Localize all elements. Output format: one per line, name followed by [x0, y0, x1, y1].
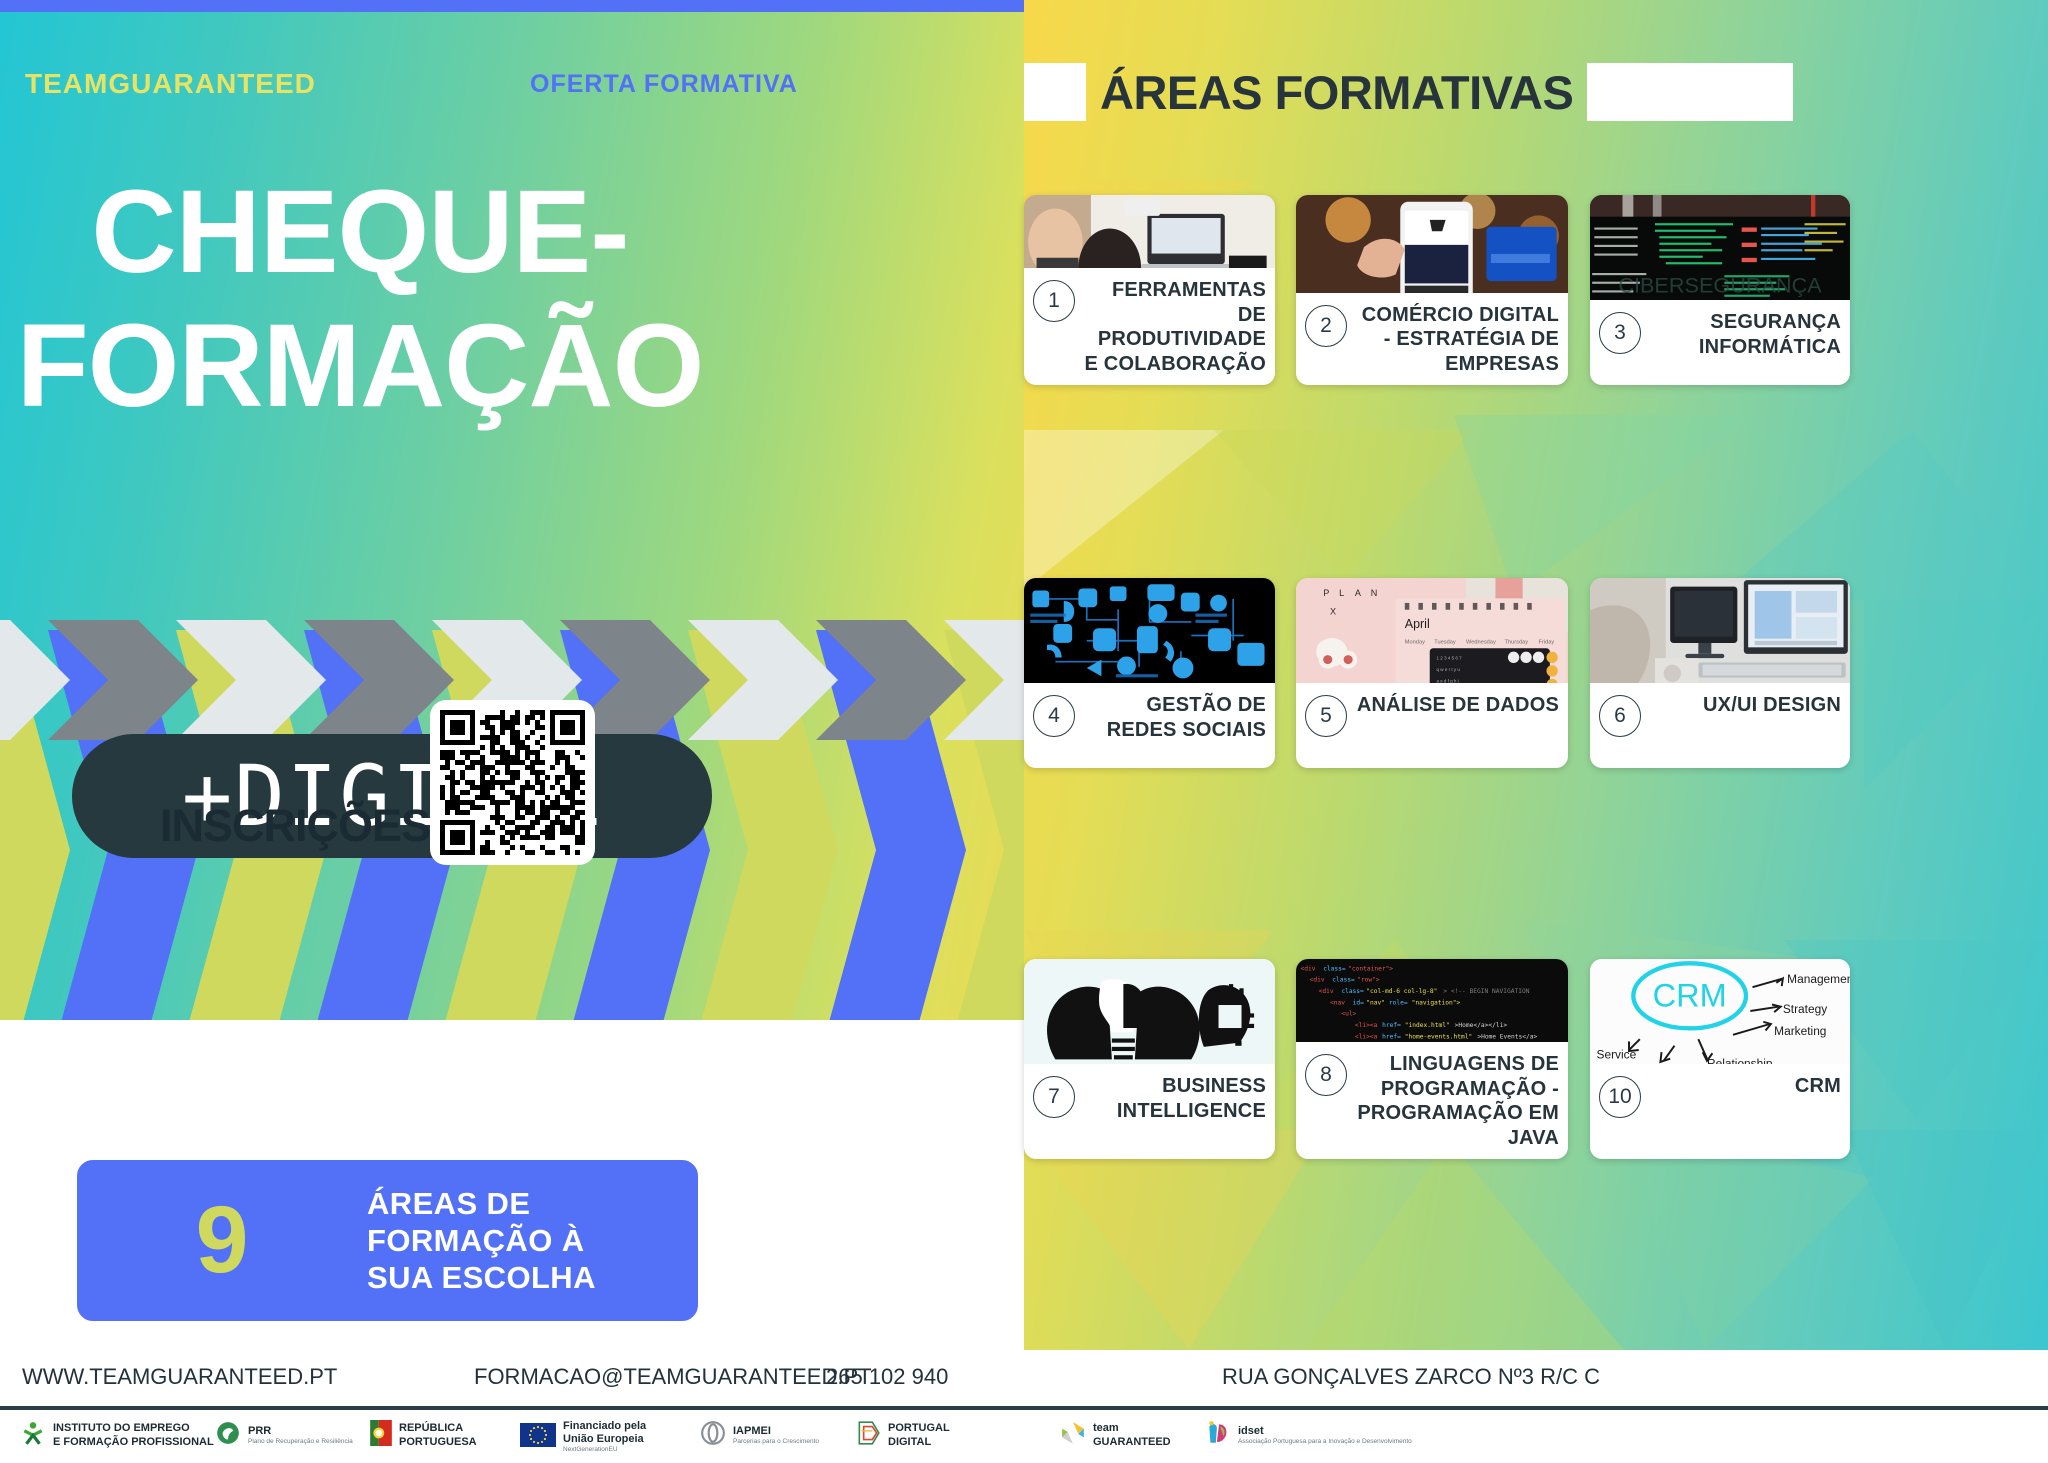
svg-text:"col-md-6 col-lg-8": "col-md-6 col-lg-8": [1366, 988, 1437, 995]
svg-text:id=: id=: [1353, 999, 1364, 1006]
course-title: SEGURANÇA INFORMÁTICA: [1648, 310, 1841, 360]
course-meta: 7BUSINESS INTELLIGENCE: [1024, 1064, 1275, 1159]
svg-text:CRM: CRM: [1653, 978, 1727, 1014]
logo-line-1: idset: [1238, 1425, 1412, 1438]
course-card[interactable]: 6UX/UI DESIGN: [1590, 578, 1850, 768]
svg-text:P: P: [1323, 588, 1329, 598]
svg-text:class=: class=: [1341, 988, 1364, 995]
inscricoes-label: INSCRIÇÕES:: [160, 800, 444, 852]
footer-address: RUA GONÇALVES ZARCO Nº3 R/C C: [1222, 1364, 1600, 1390]
partner-logo-text: idsetAssociação Portuguesa para a Inovaç…: [1238, 1425, 1412, 1446]
course-grid: 1FERRAMENTAS DE PRODUTIVIDADE E COLABORA…: [1024, 195, 2048, 1340]
svg-text:Tuesday: Tuesday: [1434, 640, 1456, 646]
partner-logo-text: Financiado pelaUnião EuropeiaNextGenerat…: [563, 1420, 646, 1454]
svg-text:<li><a: <li><a: [1355, 1033, 1378, 1040]
course-title: GESTÃO DE REDES SOCIAIS: [1082, 693, 1266, 743]
portugal-digital-icon: [855, 1420, 881, 1451]
course-card[interactable]: CIBERSEGURANÇA 3SEGURANÇA INFORMÁTICA: [1590, 195, 1850, 385]
svg-text:Marketing: Marketing: [1774, 1024, 1826, 1038]
course-title: ANÁLISE DE DADOS: [1354, 693, 1559, 718]
svg-text:<div: <div: [1301, 965, 1316, 972]
course-row-2: 4GESTÃO DE REDES SOCIAIS April MondayTue…: [1024, 578, 2048, 768]
svg-text:>Home Events</a>: >Home Events</a>: [1477, 1033, 1537, 1040]
iapmei-icon: [700, 1420, 726, 1451]
svg-text:q w e r t y u: q w e r t y u: [1437, 667, 1461, 672]
idset-icon: [1205, 1420, 1231, 1451]
logo-line-2: E FORMAÇÃO PROFISSIONAL: [53, 1436, 214, 1449]
svg-text:<div: <div: [1319, 988, 1334, 995]
course-thumbnail-social-icons: [1024, 578, 1275, 683]
chevron-shape-top: [816, 620, 966, 740]
svg-text:"navigation">: "navigation">: [1412, 999, 1461, 1006]
course-meta: 3SEGURANÇA INFORMÁTICA: [1590, 300, 1850, 385]
course-number-badge: 7: [1033, 1076, 1075, 1118]
logo-subtext: Parcerias para o Crescimento: [733, 1438, 819, 1446]
brand-label: TEAMGUARANTEED: [25, 68, 316, 100]
course-meta: 4GESTÃO DE REDES SOCIAIS: [1024, 683, 1275, 768]
headline-line-1: CHEQUE-: [91, 166, 628, 298]
svg-text:>Home</a></li>: >Home</a></li>: [1455, 1022, 1508, 1029]
page-title: CHEQUE- FORMAÇÃO: [0, 155, 720, 445]
chevron-shape-top: [0, 620, 70, 740]
svg-text:X: X: [1330, 606, 1336, 616]
course-number-badge: 2: [1305, 305, 1347, 347]
course-meta: 8LINGUAGENS DE PROGRAMAÇÃO - PROGRAMAÇÃO…: [1296, 1042, 1568, 1159]
course-number-badge: 4: [1033, 695, 1075, 737]
svg-text:Management: Management: [1787, 972, 1850, 986]
svg-text:a s d f g h j: a s d f g h j: [1437, 678, 1459, 683]
header-block-right: [1587, 63, 1793, 121]
course-title: CRM: [1648, 1074, 1841, 1099]
logo-line-1: team: [1093, 1422, 1171, 1435]
course-number-badge: 8: [1305, 1054, 1347, 1096]
svg-text:<div: <div: [1310, 977, 1325, 984]
svg-text:<ul>: <ul>: [1341, 1011, 1356, 1018]
oferta-formativa-label: OFERTA FORMATIVA: [530, 70, 798, 99]
course-meta: 1FERRAMENTAS DE PRODUTIVIDADE E COLABORA…: [1024, 268, 1275, 385]
svg-text:April: April: [1405, 617, 1430, 631]
partner-logo-text: teamGUARANTEED: [1093, 1422, 1171, 1448]
course-card[interactable]: <divclass="container"> <divclass="row"> …: [1296, 959, 1568, 1159]
partner-logo-republica: REPÚBLICAPORTUGUESA: [370, 1420, 477, 1451]
course-title: BUSINESS INTELLIGENCE: [1082, 1074, 1266, 1124]
logo-line-2: DIGITAL: [888, 1436, 950, 1449]
svg-text:Strategy: Strategy: [1783, 1002, 1827, 1016]
logo-line-1: REPÚBLICA: [399, 1422, 477, 1435]
course-thumbnail-head-brain: [1024, 959, 1275, 1064]
logo-subtext: Plano de Recuperação e Resiliência: [248, 1438, 353, 1446]
areas-formativas-title: ÁREAS FORMATIVAS: [1086, 65, 1587, 120]
course-number-badge: 10: [1599, 1076, 1641, 1118]
poster-root: TEAMGUARANTEED OFERTA FORMATIVA CHEQUE- …: [0, 0, 2048, 1463]
course-row-3: 7BUSINESS INTELLIGENCE <divclass="contai…: [1024, 959, 2048, 1159]
svg-text:"container">: "container">: [1348, 965, 1393, 972]
course-count-text: ÁREAS DE FORMAÇÃO À SUA ESCOLHA: [367, 1185, 596, 1297]
course-thumbnail-phone-shopping: [1296, 195, 1568, 293]
course-card[interactable]: April MondayTuesday WednesdayThursday Fr…: [1296, 578, 1568, 768]
count-line-3: SUA ESCOLHA: [367, 1259, 596, 1296]
course-card[interactable]: CRM Management Strategy Marketing Servic…: [1590, 959, 1850, 1159]
partner-logo-iefp: INSTITUTO DO EMPREGOE FORMAÇÃO PROFISSIO…: [20, 1420, 214, 1451]
svg-text:"nav": "nav": [1366, 999, 1385, 1006]
course-meta: 6UX/UI DESIGN: [1590, 683, 1850, 768]
chevron-shape-top: [176, 620, 326, 740]
chevron-shape-top: [48, 620, 198, 740]
svg-text:<li><a: <li><a: [1355, 1022, 1378, 1029]
qr-code-svg: [440, 710, 585, 855]
footer-website[interactable]: WWW.TEAMGUARANTEED.PT: [22, 1364, 337, 1390]
svg-text:<nav: <nav: [1330, 999, 1345, 1006]
footer-contact-bar: WWW.TEAMGUARANTEED.PT FORMACAO@TEAMGUARA…: [0, 1350, 2048, 1410]
logo-line-2: GUARANTEED: [1093, 1436, 1171, 1449]
svg-text:CIBERSEGURANÇA: CIBERSEGURANÇA: [1618, 273, 1822, 298]
svg-text:Wednesday: Wednesday: [1466, 640, 1496, 646]
partner-logo-text: IAPMEIParcerias para o Crescimento: [733, 1425, 819, 1446]
course-card[interactable]: 1FERRAMENTAS DE PRODUTIVIDADE E COLABORA…: [1024, 195, 1275, 385]
course-card[interactable]: 7BUSINESS INTELLIGENCE: [1024, 959, 1275, 1159]
svg-text:A: A: [1355, 588, 1362, 598]
course-meta: 5ANÁLISE DE DADOS: [1296, 683, 1568, 768]
course-title: UX/UI DESIGN: [1648, 693, 1841, 718]
course-title: LINGUAGENS DE PROGRAMAÇÃO - PROGRAMAÇÃO …: [1354, 1052, 1559, 1151]
partner-logo-text: PORTUGALDIGITAL: [888, 1422, 950, 1448]
partner-logo-uniao-europeia: Financiado pelaUnião EuropeiaNextGenerat…: [520, 1420, 646, 1454]
svg-text:"index.html": "index.html": [1405, 1022, 1450, 1029]
course-number-badge: 5: [1305, 695, 1347, 737]
svg-text:N: N: [1371, 588, 1378, 598]
iefp-icon: [20, 1420, 46, 1451]
svg-text:Monday: Monday: [1405, 640, 1425, 646]
partner-logo-prr: PRRPlano de Recuperação e Resiliência: [215, 1420, 353, 1451]
course-title: FERRAMENTAS DE PRODUTIVIDADE E COLABORAÇ…: [1082, 278, 1266, 377]
course-number-badge: 6: [1599, 695, 1641, 737]
qr-code[interactable]: [430, 700, 595, 865]
prr-icon: [215, 1420, 241, 1451]
course-card[interactable]: 2COMÉRCIO DIGITAL - ESTRATÉGIA DE EMPRES…: [1296, 195, 1568, 385]
logo-line-2: PORTUGUESA: [399, 1436, 477, 1449]
footer-email[interactable]: FORMACAO@TEAMGUARANTEED.PT: [474, 1364, 872, 1390]
teamguaranteed-icon: [1060, 1420, 1086, 1451]
course-title: COMÉRCIO DIGITAL - ESTRATÉGIA DE EMPRESA…: [1354, 303, 1559, 377]
course-thumbnail-laptop-desk: [1024, 195, 1275, 268]
svg-text:Service: Service: [1597, 1048, 1637, 1062]
svg-text:class=: class=: [1323, 965, 1346, 972]
logo-line-1: PORTUGAL: [888, 1422, 950, 1435]
logo-line-1: INSTITUTO DO EMPREGO: [53, 1422, 214, 1435]
svg-text:1 2 3 4 5 6 7: 1 2 3 4 5 6 7: [1437, 656, 1463, 661]
logo-subtext: Associação Portuguesa para a Inovação e …: [1238, 1438, 1412, 1446]
course-card[interactable]: 4GESTÃO DE REDES SOCIAIS: [1024, 578, 1275, 768]
svg-text:href=: href=: [1382, 1022, 1401, 1029]
course-meta: 2COMÉRCIO DIGITAL - ESTRATÉGIA DE EMPRES…: [1296, 293, 1568, 385]
areas-formativas-header: ÁREAS FORMATIVAS: [1024, 62, 2048, 122]
course-thumbnail-desk-monitor: [1590, 578, 1850, 683]
course-thumbnail-planner-calendar: April MondayTuesday WednesdayThursday Fr…: [1296, 578, 1568, 683]
course-count-number: 9: [77, 1193, 367, 1288]
svg-text:Relationship: Relationship: [1707, 1056, 1773, 1064]
count-line-2: FORMAÇÃO À: [367, 1222, 596, 1259]
logo-line-2: União Europeia: [563, 1433, 646, 1446]
svg-text:Friday: Friday: [1539, 640, 1555, 646]
svg-text:class=: class=: [1332, 977, 1355, 984]
partner-logo-portugal-digital: PORTUGALDIGITAL: [855, 1420, 950, 1451]
course-thumbnail-crm-whiteboard: CRM Management Strategy Marketing Servic…: [1590, 959, 1850, 1064]
course-row-1: 1FERRAMENTAS DE PRODUTIVIDADE E COLABORA…: [1024, 195, 2048, 385]
partner-logo-idset: idsetAssociação Portuguesa para a Inovaç…: [1205, 1420, 1412, 1451]
partner-logo-text: INSTITUTO DO EMPREGOE FORMAÇÃO PROFISSIO…: [53, 1422, 214, 1448]
course-number-badge: 3: [1599, 312, 1641, 354]
partner-logo-text: REPÚBLICAPORTUGUESA: [399, 1422, 477, 1448]
logo-line-1: IAPMEI: [733, 1425, 819, 1438]
svg-text:"row">: "row">: [1357, 977, 1380, 984]
svg-text:role=: role=: [1389, 999, 1408, 1006]
partner-logo-text: PRRPlano de Recuperação e Resiliência: [248, 1425, 353, 1446]
republica-icon: [370, 1420, 392, 1451]
headline-line-2: FORMAÇÃO: [0, 289, 720, 445]
course-number-badge: 1: [1033, 280, 1075, 322]
partner-logo-bar: INSTITUTO DO EMPREGOE FORMAÇÃO PROFISSIO…: [0, 1414, 2048, 1463]
course-meta: 10CRM: [1590, 1064, 1850, 1159]
svg-text:"home-events.html": "home-events.html": [1405, 1033, 1472, 1040]
footer-phone[interactable]: 265 102 940: [826, 1364, 948, 1390]
header-block-left: [1024, 63, 1086, 121]
svg-text:href=: href=: [1382, 1033, 1401, 1040]
logo-line-1: PRR: [248, 1425, 353, 1438]
uniao-europeia-icon: [520, 1422, 556, 1453]
top-accent-strip: [0, 0, 1024, 12]
count-line-1: ÁREAS DE: [367, 1185, 596, 1222]
course-thumbnail-terminal-code: CIBERSEGURANÇA: [1590, 195, 1850, 300]
partner-logo-teamguaranteed: teamGUARANTEED: [1060, 1420, 1171, 1451]
chevron-shape-top: [688, 620, 838, 740]
svg-text:> <!-- BEGIN NAVIGATION: > <!-- BEGIN NAVIGATION: [1443, 988, 1529, 995]
course-thumbnail-html-code: <divclass="container"> <divclass="row"> …: [1296, 959, 1568, 1042]
svg-text:Thursday: Thursday: [1505, 640, 1529, 646]
course-count-card: 9 ÁREAS DE FORMAÇÃO À SUA ESCOLHA: [75, 1158, 700, 1323]
logo-line-1: Financiado pela: [563, 1420, 646, 1433]
svg-text:L: L: [1339, 588, 1344, 598]
logo-subtext: NextGenerationEU: [563, 1446, 646, 1454]
partner-logo-iapmei: IAPMEIParcerias para o Crescimento: [700, 1420, 819, 1451]
